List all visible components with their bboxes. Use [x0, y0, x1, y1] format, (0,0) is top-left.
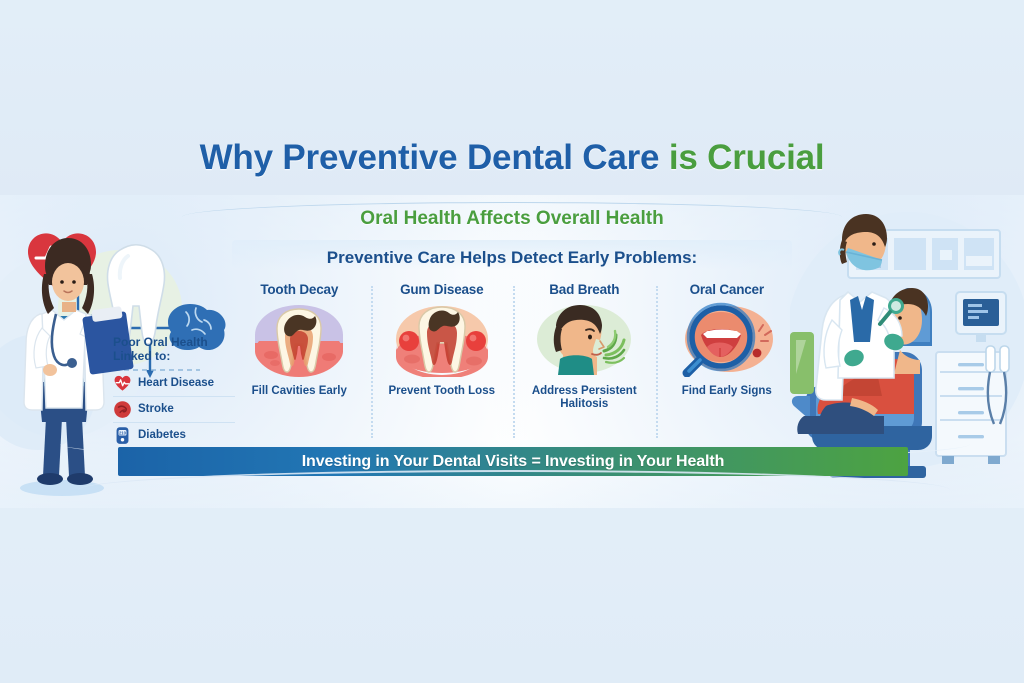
glucose-meter-icon: 210 — [113, 426, 132, 445]
problem-cards: Tooth Decay Fill Cavities Early — [228, 282, 798, 442]
list-item: Stroke — [113, 397, 235, 423]
card-caption: Address Persistent Halitosis — [528, 385, 640, 411]
title-accent: is Crucial — [669, 138, 825, 177]
card-title: Tooth Decay — [260, 282, 338, 297]
list-item-label: Diabetes — [138, 429, 186, 441]
footer-banner: Investing in Your Dental Visits = Invest… — [0, 444, 1024, 484]
inflamed-gums-tooth-icon — [388, 301, 496, 377]
banner-text: Investing in Your Dental Visits = Invest… — [302, 453, 725, 471]
card-title: Oral Cancer — [690, 282, 764, 297]
card-title: Gum Disease — [400, 282, 483, 297]
infographic-page: Why Preventive Dental Care is Crucial Or… — [0, 0, 1024, 683]
halitosis-profile-icon — [530, 301, 638, 377]
list-item-label: Stroke — [138, 403, 174, 415]
linked-conditions-title: Poor Oral Health Linked to: — [113, 336, 235, 364]
card-tooth-decay: Tooth Decay Fill Cavities Early — [228, 282, 371, 442]
linked-conditions-list: Poor Oral Health Linked to: Heart Diseas… — [113, 336, 235, 448]
card-gum-disease: Gum Disease Prevent Tooth Loss — [371, 282, 514, 442]
page-title: Why Preventive Dental Care is Crucial — [0, 140, 1024, 177]
card-caption: Prevent Tooth Loss — [389, 385, 496, 398]
card-caption: Fill Cavities Early — [252, 385, 347, 398]
section-heading: Preventive Care Helps Detect Early Probl… — [0, 248, 1024, 268]
title-primary: Why Preventive Dental Care — [200, 138, 660, 177]
brain-stroke-icon — [113, 400, 132, 419]
magnifier-mouth-icon — [673, 301, 781, 377]
svg-text:210: 210 — [119, 430, 127, 435]
card-caption: Find Early Signs — [682, 385, 772, 398]
decayed-tooth-icon — [245, 301, 353, 377]
card-title: Bad Breath — [549, 282, 619, 297]
list-item: Heart Disease — [113, 371, 235, 397]
monitor-screen — [956, 292, 1006, 342]
page-subtitle: Oral Health Affects Overall Health — [0, 208, 1024, 230]
heart-pulse-icon — [113, 374, 132, 393]
list-item-label: Heart Disease — [138, 377, 214, 389]
card-bad-breath: Bad Breath — [513, 282, 656, 442]
card-oral-cancer: Oral Cancer Find Ea — [656, 282, 799, 442]
